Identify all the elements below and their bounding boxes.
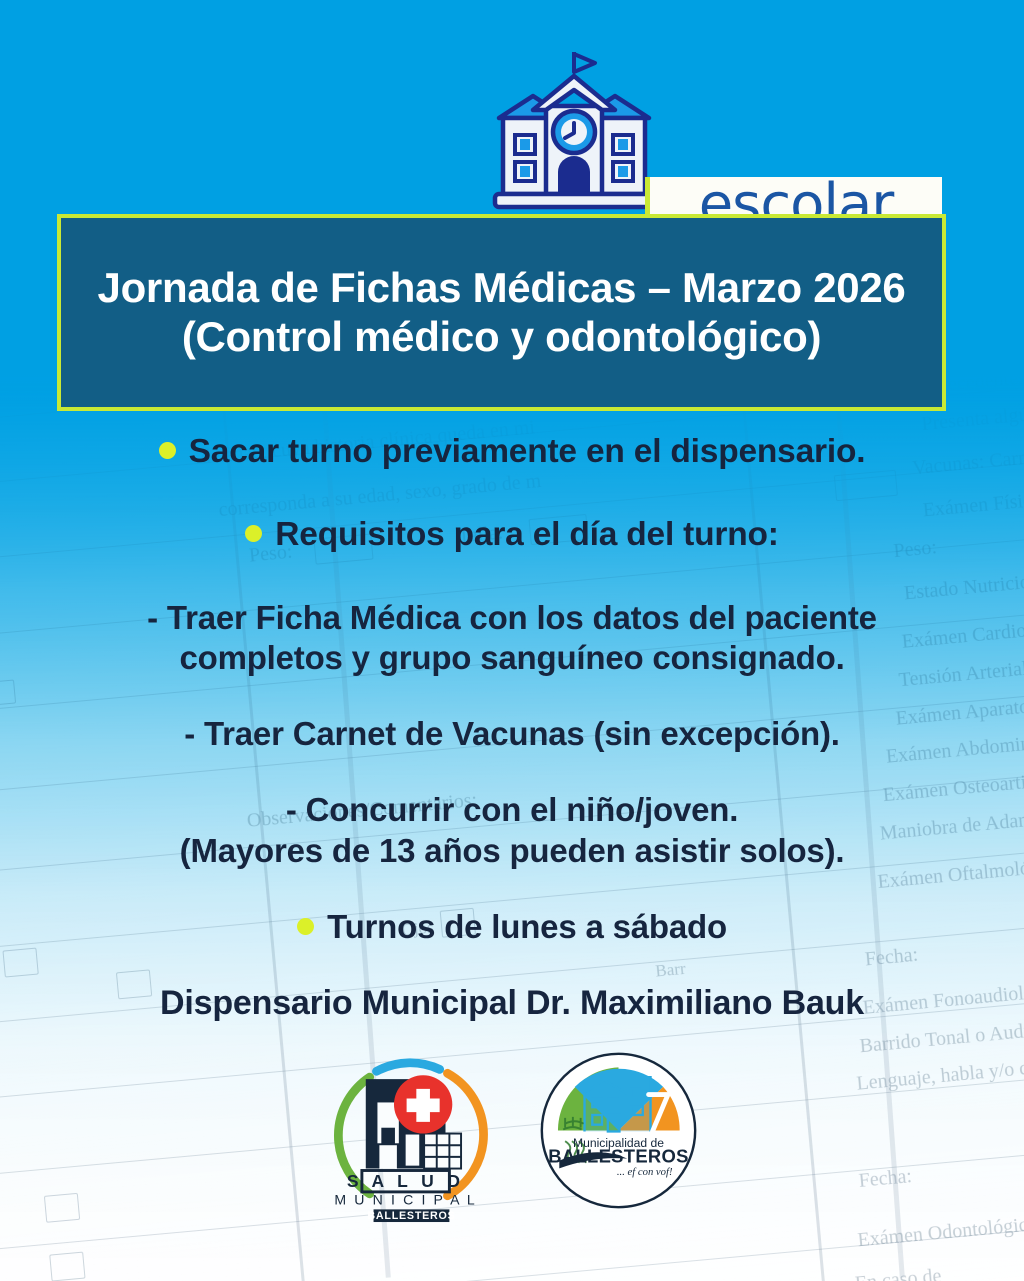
requirement-line-3a: - Concurrir con el niño/joven. [0,790,1024,830]
salud-municipal-ballesteros-logo: S A L U D M U N I C I P A L BALLESTEROS [323,1048,498,1228]
requirement-line-1b: completos y grupo sanguíneo consignado. [0,638,1024,678]
salud-logo-line2: M U N I C I P A L [334,1192,477,1208]
requirement-line-2: - Traer Carnet de Vacunas (sin excepción… [0,714,1024,754]
bullet-line-2: Requisitos para el día del turno: [0,515,1024,556]
body-content: Sacar turno previamente en el dispensari… [0,432,1024,1025]
school-building-icon [489,50,659,215]
requirement-line-1a: - Traer Ficha Médica con los datos del p… [0,598,1024,638]
bullet-line-1: Sacar turno previamente en el dispensari… [0,432,1024,473]
muni-logo-tagline: ... ef con vof! [617,1166,673,1178]
logo-row: S A L U D M U N I C I P A L BALLESTEROS [0,1048,1024,1228]
municipalidad-de-ballesteros-logo: Municipalidad de BALLESTEROS ... ef con … [536,1048,701,1218]
bullet-dot-icon [159,442,176,459]
bullet-line-3-text: Turnos de lunes a sábado [327,908,727,945]
bullet-line-1-text: Sacar turno previamente en el dispensari… [189,433,866,470]
page-title: Jornada de Fichas Médicas – Marzo 2026 (… [61,264,942,361]
bullet-line-3: Turnos de lunes a sábado [0,907,1024,947]
dispensary-name: Dispensario Municipal Dr. Maximiliano Ba… [0,983,1024,1024]
salud-logo-line1: S A L U D [347,1171,464,1191]
requirement-line-3b: (Mayores de 13 años pueden asistir solos… [0,831,1024,871]
bullet-dot-icon [245,525,262,542]
poster-canvas: yo excedo A SECUNDARIA DNI N.º bucas, ot… [0,0,1024,1281]
salud-logo-line3: BALLESTEROS [367,1210,455,1222]
title-banner: Jornada de Fichas Médicas – Marzo 2026 (… [57,214,946,411]
poster-header: escolar [0,44,1024,209]
bullet-dot-icon [297,918,314,935]
muni-logo-line2: BALLESTEROS [548,1146,688,1167]
bullet-line-2-text: Requisitos para el día del turno: [275,516,778,553]
